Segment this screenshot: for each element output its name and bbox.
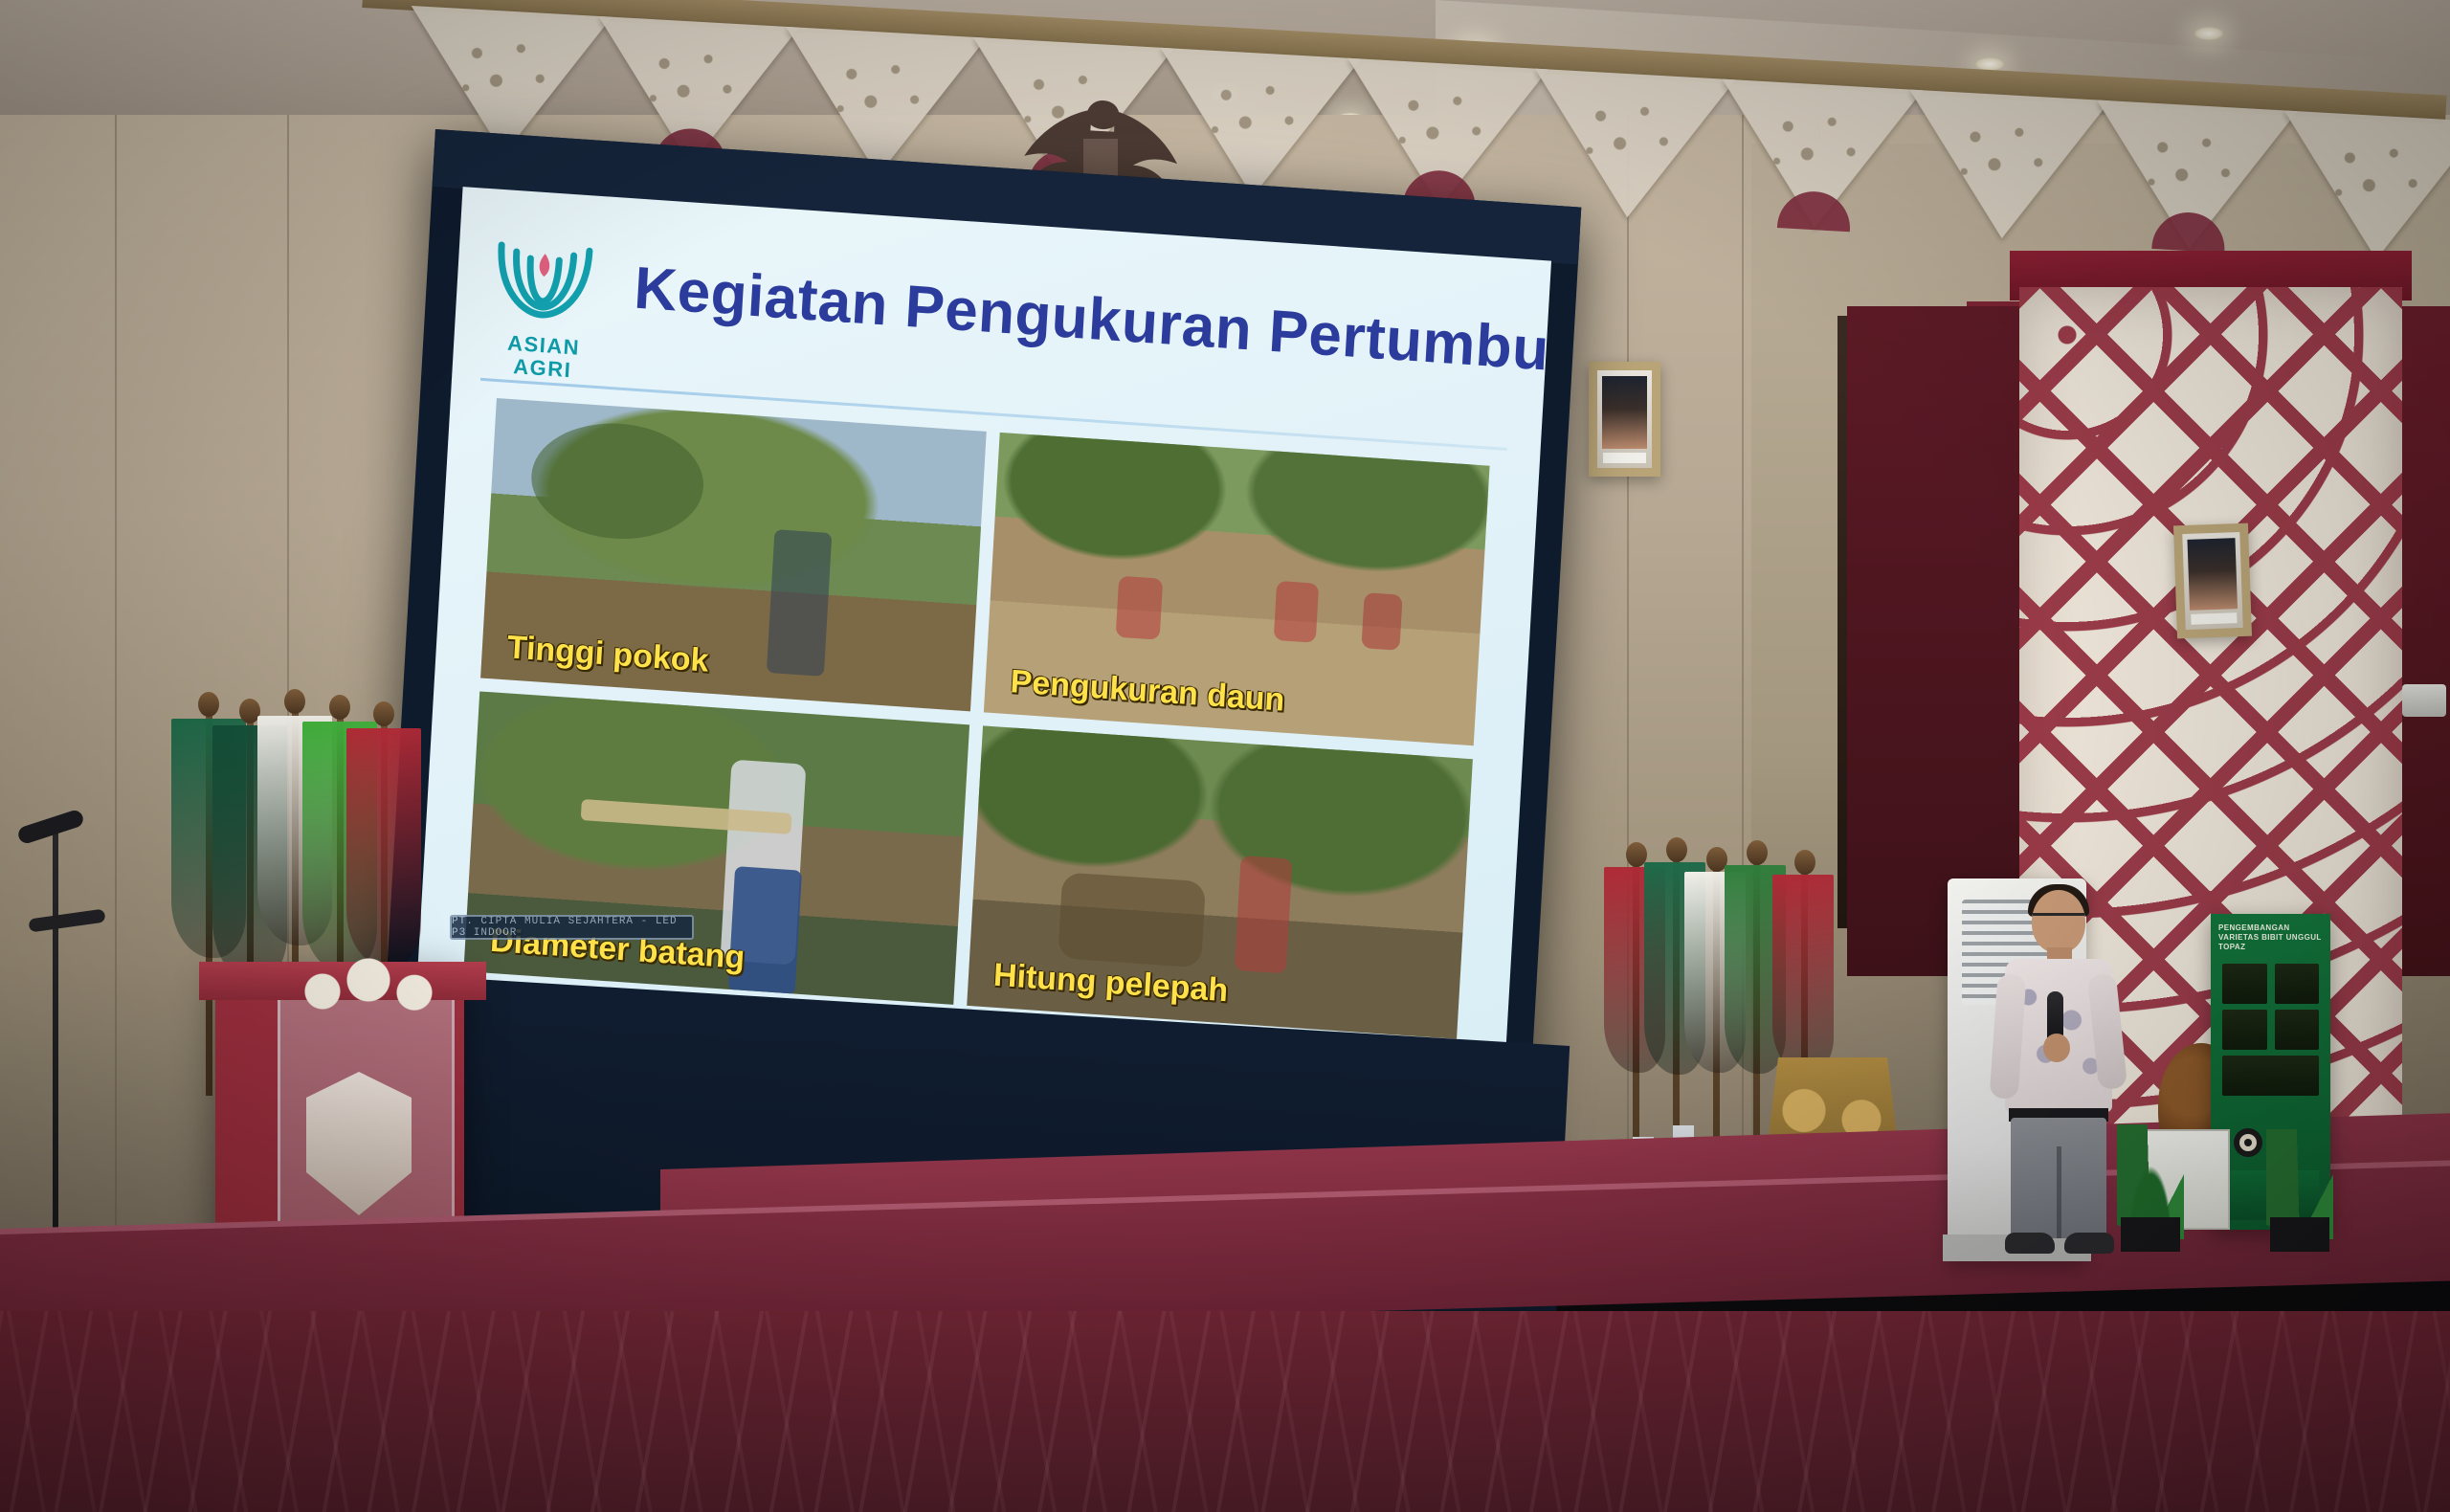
pillar-side-dark-2 — [2402, 306, 2450, 976]
presentation-slide: ASIAN AGRI Kegiatan Pengukuran Pertumbuh… — [414, 187, 1551, 1101]
wall-sensor — [2402, 684, 2446, 717]
banner-variety-cell — [2222, 1010, 2267, 1050]
official-portrait-upper — [1589, 362, 1660, 477]
banner-variety-cell — [2275, 1010, 2320, 1050]
slide-title: Kegiatan Pengukuran Pertumbuhan — [633, 255, 1551, 392]
fretwork-triangle — [2276, 110, 2450, 264]
photo-tile: Hitung pelepah — [967, 725, 1473, 1038]
flag-pole-finial — [284, 689, 305, 714]
conference-hall-scene: ASIAN AGRI Kegiatan Pengukuran Pertumbuh… — [0, 0, 2450, 1512]
banner-variety-cell — [2222, 964, 2267, 1004]
photo-caption: Pengukuran daun — [1010, 663, 1286, 719]
glasses-icon — [2033, 913, 2084, 923]
asian-agri-logo-text: ASIAN AGRI — [484, 330, 601, 384]
presenter-hand — [2043, 1034, 2070, 1062]
hall-floor — [0, 1311, 2450, 1512]
podium-carving — [292, 957, 445, 1014]
photo-caption: Hitung pelepah — [992, 957, 1229, 1011]
flag — [1772, 875, 1834, 1074]
photo-tile: Tinggi pokok — [480, 398, 987, 711]
fretwork-triangle — [1902, 90, 2110, 244]
official-portrait-lower — [2173, 523, 2252, 639]
banner-variety-cells — [2222, 964, 2319, 1096]
flag-pole-finial — [198, 692, 219, 717]
downlight — [2194, 27, 2223, 40]
flag-pole-finial — [1666, 837, 1687, 862]
screen-vendor-badge: PT. CIPTA MULIA SEJAHTERA - LED P3 INDOO… — [450, 915, 694, 940]
flag-pole-finial — [1794, 850, 1815, 875]
presenter-shoe — [2005, 1233, 2055, 1254]
presenter-person — [1986, 890, 2129, 1254]
flag — [346, 728, 421, 967]
banner-title: PENGEMBANGAN VARIETAS BIBIT UNGGUL TOPAZ — [2218, 923, 2323, 952]
presenter-shoe — [2064, 1233, 2114, 1254]
photo-tile: Diameter batang — [463, 691, 969, 1004]
banner-variety-cell — [2222, 1056, 2319, 1096]
photo-caption: Tinggi pokok — [506, 629, 710, 679]
plant-pot — [2121, 1217, 2180, 1252]
fretwork-triangle — [1526, 69, 1735, 223]
flag-pole-finial — [1747, 840, 1768, 865]
banner-variety-cell — [2275, 964, 2320, 1004]
asian-agri-logo-icon — [483, 217, 605, 340]
plant-pot — [2270, 1217, 2329, 1252]
flag-pole-finial — [329, 695, 350, 720]
photo-tile: Pengukuran daun — [984, 433, 1490, 745]
photo-grid: Tinggi pokok Pengukuran daun Diameter ba… — [463, 398, 1489, 1039]
flag-pole-finial — [373, 701, 394, 726]
pillar-side-dark — [1847, 306, 2024, 976]
